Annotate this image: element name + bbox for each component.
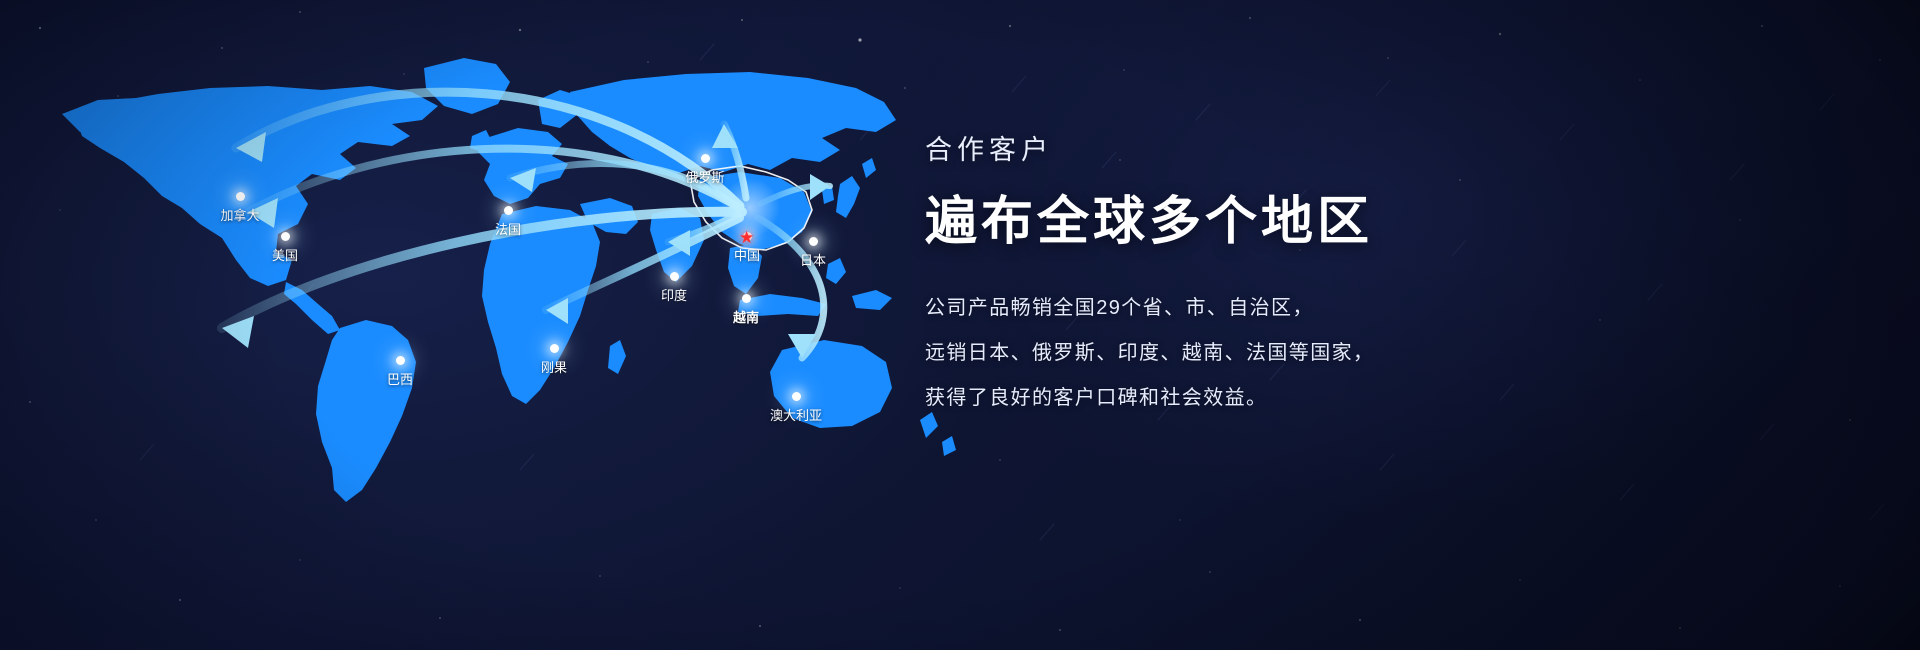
description-line-2: 远销日本、俄罗斯、印度、越南、法国等国家， (925, 339, 1825, 368)
map-label-usa: 美国 (272, 249, 298, 263)
global-customers-banner: 加拿大美国巴西法国俄罗斯印度刚果★中国日本越南澳大利亚 合作客户 遍布全球多个地… (0, 0, 1920, 650)
world-map: 加拿大美国巴西法国俄罗斯印度刚果★中国日本越南澳大利亚 (40, 28, 990, 548)
marker-dot-icon (792, 392, 801, 401)
marker-dot-icon (809, 237, 818, 246)
description-line-1: 公司产品畅销全国29个省、市、自治区， (925, 294, 1825, 323)
marker-dot-icon (396, 356, 405, 365)
map-label-china: 中国 (734, 249, 760, 263)
marker-dot-icon (701, 154, 710, 163)
marker-dot-icon (236, 192, 245, 201)
marker-dot-icon (504, 206, 513, 215)
map-label-brazil: 巴西 (387, 373, 413, 387)
marker-dot-icon (550, 344, 559, 353)
headline-text: 遍布全球多个地区 (925, 179, 1825, 254)
copy-block: 合作客户 遍布全球多个地区 公司产品畅销全国29个省、市、自治区，远销日本、俄罗… (925, 128, 1825, 413)
marker-dot-icon (742, 294, 751, 303)
map-label-france: 法国 (495, 223, 521, 237)
map-label-vietnam: 越南 (733, 311, 759, 325)
description-line-3: 获得了良好的客户口碑和社会效益。 (925, 384, 1825, 413)
map-label-australia: 澳大利亚 (770, 409, 822, 423)
description-paragraph: 公司产品畅销全国29个省、市、自治区，远销日本、俄罗斯、印度、越南、法国等国家，… (925, 294, 1825, 413)
marker-dot-icon (281, 232, 290, 241)
eyebrow-text: 合作客户 (925, 128, 1825, 167)
map-label-india: 印度 (661, 289, 687, 303)
map-label-japan: 日本 (800, 254, 826, 268)
map-label-canada: 加拿大 (220, 209, 259, 223)
map-label-russia: 俄罗斯 (685, 171, 724, 185)
marker-dot-icon (670, 272, 679, 281)
map-label-congo: 刚果 (541, 361, 567, 375)
